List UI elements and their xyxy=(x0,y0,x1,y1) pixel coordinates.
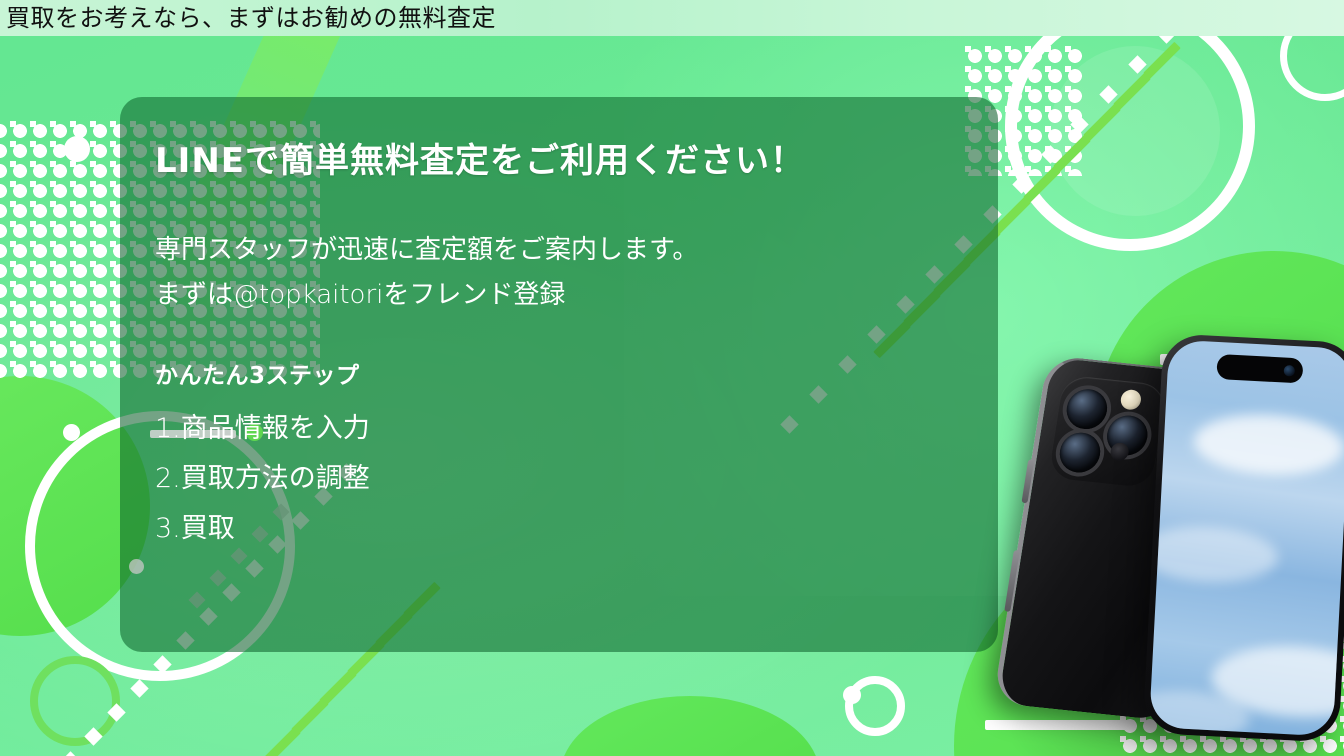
grid-dot xyxy=(1025,126,1031,132)
promo-lead: 専門スタッフが迅速に査定額をご案内します。 まずは@topkaitoriをフレン… xyxy=(155,228,985,318)
grid-dot xyxy=(1025,46,1031,52)
dynamic-island xyxy=(1216,354,1303,383)
grid-dot xyxy=(1005,126,1011,132)
grid-dot xyxy=(10,321,16,327)
product-phones xyxy=(995,310,1344,756)
grid-dot xyxy=(30,221,36,227)
grid-dot xyxy=(70,321,76,327)
grid-dot xyxy=(70,281,76,287)
grid-dot xyxy=(50,301,56,307)
promo-lead-line-2: まずは@topkaitoriをフレンド登録 xyxy=(155,273,985,318)
grid-dot xyxy=(50,281,56,287)
grid-dot xyxy=(110,221,116,227)
grid-dot xyxy=(1045,66,1051,72)
grid-dot xyxy=(70,121,76,127)
grid-dot xyxy=(90,181,96,187)
grid-dot xyxy=(50,361,56,367)
grid-dot xyxy=(70,361,76,367)
grid-dot xyxy=(90,261,96,267)
grid-dot xyxy=(50,321,56,327)
lidar-sensor-icon xyxy=(1109,442,1130,462)
grid-dot xyxy=(1065,46,1071,52)
grid-dot xyxy=(50,181,56,187)
cloud-shape xyxy=(1192,411,1344,479)
phone-screen xyxy=(1149,339,1344,736)
grid-dot xyxy=(10,341,16,347)
grid-dot xyxy=(110,301,116,307)
grid-dot xyxy=(110,181,116,187)
dot-white-bottom-center xyxy=(843,686,861,704)
grid-dot xyxy=(30,241,36,247)
power-button-icon xyxy=(1004,550,1020,612)
grid-dot xyxy=(30,281,36,287)
hero-banner: LINEで簡単無料査定をご利用ください！ 専門スタッフが迅速に査定額をご案内しま… xyxy=(0,0,1344,756)
grid-dot xyxy=(1005,46,1011,52)
grid-dot xyxy=(110,361,116,367)
grid-dot xyxy=(90,321,96,327)
grid-dot xyxy=(70,301,76,307)
grid-dot xyxy=(50,241,56,247)
grid-dot xyxy=(10,261,16,267)
grid-dot xyxy=(90,361,96,367)
grid-dot xyxy=(10,121,16,127)
grid-dot xyxy=(985,46,991,52)
grid-dot xyxy=(10,181,16,187)
grid-dot xyxy=(1065,126,1071,132)
grid-dot xyxy=(1005,66,1011,72)
grid-dot xyxy=(50,161,56,167)
grid-dot xyxy=(90,341,96,347)
page-title: 買取をお考えなら、まずはお勧めの無料査定 xyxy=(6,3,496,33)
grid-dot xyxy=(1005,86,1011,92)
grid-dot xyxy=(30,201,36,207)
promo-card-content: LINEで簡単無料査定をご利用ください！ 専門スタッフが迅速に査定額をご案内しま… xyxy=(155,138,985,554)
grid-dot xyxy=(1045,126,1051,132)
grid-dot xyxy=(50,141,56,147)
grid-dot xyxy=(30,121,36,127)
grid-dot xyxy=(90,301,96,307)
grid-dot xyxy=(110,161,116,167)
grid-dot xyxy=(30,261,36,267)
grid-dot xyxy=(50,341,56,347)
dot-white-top-left xyxy=(64,136,90,162)
cloud-shape xyxy=(1149,523,1279,585)
grid-dot xyxy=(70,221,76,227)
grid-dot xyxy=(50,121,56,127)
grid-dot xyxy=(30,181,36,187)
grid-dot xyxy=(30,321,36,327)
grid-dot xyxy=(1045,46,1051,52)
grid-dot xyxy=(110,141,116,147)
grid-dot xyxy=(70,261,76,267)
grid-dot xyxy=(1025,86,1031,92)
grid-dot xyxy=(1045,86,1051,92)
grid-dot xyxy=(10,141,16,147)
step-item: 3.買取 xyxy=(155,504,985,554)
grid-dot xyxy=(1005,166,1011,172)
grid-dot xyxy=(110,261,116,267)
grid-dot xyxy=(70,181,76,187)
grid-dot xyxy=(1065,66,1071,72)
grid-dot xyxy=(50,261,56,267)
grid-dot xyxy=(50,221,56,227)
grid-dot xyxy=(90,201,96,207)
grid-dot xyxy=(110,201,116,207)
grid-dot xyxy=(90,161,96,167)
grid-dot xyxy=(10,161,16,167)
grid-dot xyxy=(965,86,971,92)
camera-lens-icon xyxy=(1064,387,1110,431)
grid-dot xyxy=(1025,166,1031,172)
grid-dot xyxy=(110,321,116,327)
grid-dot xyxy=(110,281,116,287)
steps-title: かんたん3ステップ xyxy=(155,360,985,392)
grid-dot xyxy=(10,301,16,307)
grid-dot xyxy=(985,66,991,72)
grid-dot xyxy=(1005,106,1011,112)
grid-dot xyxy=(1025,146,1031,152)
apple-logo-icon xyxy=(1077,540,1138,605)
camera-lens-icon xyxy=(1057,431,1103,475)
grid-dot xyxy=(30,141,36,147)
grid-dot xyxy=(985,86,991,92)
grid-dot xyxy=(965,66,971,72)
grid-dot xyxy=(1005,146,1011,152)
grid-dot xyxy=(965,46,971,52)
grid-dot xyxy=(30,341,36,347)
grid-dot xyxy=(110,121,116,127)
grid-dot xyxy=(1025,106,1031,112)
steps-list: 1.商品情報を入力 2.買取方法の調整 3.買取 xyxy=(155,404,985,554)
grid-dot xyxy=(70,201,76,207)
grid-dot xyxy=(70,341,76,347)
grid-dot xyxy=(90,281,96,287)
grid-dot xyxy=(10,241,16,247)
promo-lead-line-1: 専門スタッフが迅速に査定額をご案内します。 xyxy=(155,228,985,273)
grid-dot xyxy=(30,361,36,367)
grid-dot xyxy=(1065,166,1071,172)
page-header-bar: 買取をお考えなら、まずはお勧めの無料査定 xyxy=(0,0,1344,36)
grid-dot xyxy=(10,201,16,207)
step-item: 2.買取方法の調整 xyxy=(155,454,985,504)
grid-dot xyxy=(1025,66,1031,72)
grid-dot xyxy=(1065,86,1071,92)
circle-outline-bottom-center xyxy=(845,676,905,736)
step-item: 1.商品情報を入力 xyxy=(155,404,985,454)
grid-dot xyxy=(90,221,96,227)
grid-dot xyxy=(10,281,16,287)
grid-dot xyxy=(110,341,116,347)
camera-bump xyxy=(1048,375,1168,489)
grid-dot xyxy=(30,161,36,167)
grid-dot xyxy=(70,241,76,247)
grid-dot xyxy=(90,141,96,147)
grid-dot xyxy=(10,221,16,227)
grid-dot xyxy=(1065,106,1071,112)
volume-button-icon xyxy=(1021,459,1034,503)
grid-dot xyxy=(90,241,96,247)
grid-dot xyxy=(30,301,36,307)
front-camera-icon xyxy=(1284,364,1296,376)
flash-icon xyxy=(1119,389,1142,411)
promo-headline: LINEで簡単無料査定をご利用ください！ xyxy=(155,138,985,184)
iphone-front xyxy=(1143,333,1344,743)
circle-outline-green-bottom-left xyxy=(30,656,120,746)
grid-dot xyxy=(1045,106,1051,112)
grid-dot xyxy=(50,201,56,207)
grid-dot xyxy=(10,361,16,367)
grid-dot xyxy=(90,121,96,127)
grid-dot xyxy=(110,241,116,247)
